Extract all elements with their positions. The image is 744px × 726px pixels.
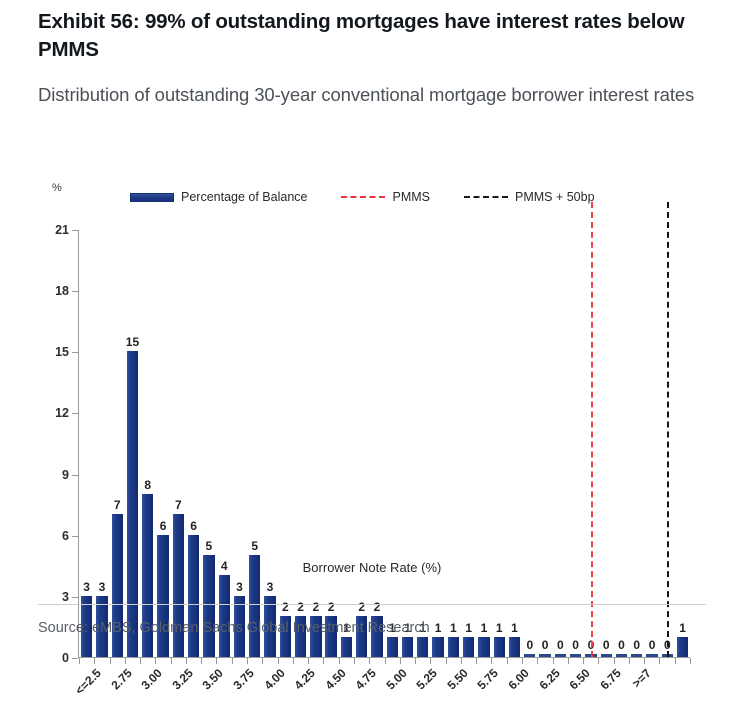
- bar-series: 3371586765435322221221111111110000000000…: [79, 230, 690, 657]
- bar-value-label: 0: [542, 638, 549, 652]
- x-axis-tick: [415, 658, 416, 664]
- x-axis-tick: [675, 658, 676, 664]
- bar-cell: 15: [125, 230, 140, 657]
- x-axis-tick: [614, 658, 615, 664]
- bar[interactable]: [188, 535, 199, 657]
- x-axis-tick-label: 6.75: [597, 666, 623, 692]
- bar[interactable]: [341, 637, 352, 657]
- bar-cell: 0: [629, 230, 644, 657]
- bar-cell: 0: [599, 230, 614, 657]
- x-axis-tick: [644, 658, 645, 664]
- x-axis-tick: [110, 658, 111, 664]
- bar-value-label: 3: [236, 580, 243, 594]
- bar-value-label: 2: [328, 600, 335, 614]
- bar-cell: 7: [171, 230, 186, 657]
- bar-value-label: 2: [313, 600, 320, 614]
- bar-value-label: 0: [649, 638, 656, 652]
- x-axis-tick-label: 3.00: [139, 666, 165, 692]
- pmms-plus-50bp-line: [667, 202, 669, 657]
- x-axis-tick-label: >=7: [630, 666, 655, 691]
- chart-page: Exhibit 56: 99% of outstanding mortgages…: [0, 0, 744, 662]
- bar[interactable]: [570, 654, 581, 657]
- x-axis-tick: [155, 658, 156, 664]
- bar-cell: 0: [644, 230, 659, 657]
- bar-cell: 0: [537, 230, 552, 657]
- x-axis-tick: [293, 658, 294, 664]
- bar[interactable]: [402, 637, 413, 657]
- legend-swatch-dashed-red-icon: [341, 196, 385, 198]
- bar[interactable]: [555, 654, 566, 657]
- bar-value-label: 8: [144, 478, 151, 492]
- bar-value-label: 2: [282, 600, 289, 614]
- x-axis-tick: [568, 658, 569, 664]
- bar-cell: 3: [232, 230, 247, 657]
- x-axis-tick: [629, 658, 630, 664]
- bar-cell: 6: [155, 230, 170, 657]
- bar-cell: 2: [278, 230, 293, 657]
- x-axis-title: Borrower Note Rate (%): [0, 560, 744, 575]
- bar-value-label: 1: [679, 621, 686, 635]
- y-axis-tick: [72, 352, 78, 353]
- bar-value-label: 6: [160, 519, 167, 533]
- legend-label-pmms-plus-50bp: PMMS + 50bp: [515, 190, 595, 204]
- x-axis-tick: [385, 658, 386, 664]
- bar[interactable]: [432, 637, 443, 657]
- bar[interactable]: [509, 637, 520, 657]
- x-axis-tick: [491, 658, 492, 664]
- y-axis-tick: [72, 658, 78, 659]
- bar-cell: 2: [369, 230, 384, 657]
- x-axis-tick: [553, 658, 554, 664]
- bar-value-label: 2: [297, 600, 304, 614]
- x-axis-tick: [186, 658, 187, 664]
- x-axis-tick-label: 5.00: [383, 666, 409, 692]
- x-axis-tick: [400, 658, 401, 664]
- footer-divider: [38, 604, 706, 605]
- x-axis-tick-label: 3.75: [230, 666, 256, 692]
- bar-cell: 1: [446, 230, 461, 657]
- bar-cell: 0: [522, 230, 537, 657]
- bar-value-label: 1: [481, 621, 488, 635]
- y-axis-tick-label: 9: [62, 468, 69, 482]
- legend-swatch-dashed-black-icon: [464, 196, 508, 198]
- x-axis-tick: [278, 658, 279, 664]
- y-axis-tick: [72, 230, 78, 231]
- x-axis-tick-label: 3.50: [200, 666, 226, 692]
- y-axis-tick-label: 3: [62, 590, 69, 604]
- plot-area: 036912151821 337158676543532222122111111…: [78, 230, 690, 658]
- bar-value-label: 3: [99, 580, 106, 594]
- bar-cell: 1: [415, 230, 430, 657]
- bar-value-label: 0: [618, 638, 625, 652]
- bar-cell: 4: [217, 230, 232, 657]
- source-note: Source: eMBS, Goldman Sachs Global Inves…: [38, 620, 430, 636]
- bar-value-label: 2: [374, 600, 381, 614]
- x-axis-tick-label: 5.75: [475, 666, 501, 692]
- bar-value-label: 1: [435, 621, 442, 635]
- y-axis-tick: [72, 597, 78, 598]
- x-axis-tick: [476, 658, 477, 664]
- bar-cell: 5: [201, 230, 216, 657]
- x-axis-tick: [537, 658, 538, 664]
- bar-value-label: 7: [114, 498, 121, 512]
- x-axis-tick-label: 4.75: [353, 666, 379, 692]
- bar-value-label: 2: [358, 600, 365, 614]
- bar-value-label: 1: [450, 621, 457, 635]
- bar-cell: 1: [461, 230, 476, 657]
- bar-value-label: 0: [557, 638, 564, 652]
- bar-cell: 1: [476, 230, 491, 657]
- bar-value-label: 1: [496, 621, 503, 635]
- x-axis-tick: [171, 658, 172, 664]
- bar-value-label: 3: [83, 580, 90, 594]
- bar-value-label: 1: [511, 621, 518, 635]
- bar[interactable]: [494, 637, 505, 657]
- pmms-line: [591, 202, 593, 657]
- bar-cell: 2: [293, 230, 308, 657]
- bar-cell: 8: [140, 230, 155, 657]
- x-axis-tick: [94, 658, 95, 664]
- x-axis-tick: [262, 658, 263, 664]
- bar-value-label: 0: [603, 638, 610, 652]
- x-axis-tick: [216, 658, 217, 664]
- x-axis-tick-label: 4.00: [261, 666, 287, 692]
- chart-legend: Percentage of Balance PMMS PMMS + 50bp: [130, 190, 595, 204]
- bar-cell: 1: [492, 230, 507, 657]
- bar-value-label: 0: [526, 638, 533, 652]
- y-axis-tick-label: 18: [55, 284, 69, 298]
- bar[interactable]: [539, 654, 550, 657]
- x-axis-tick: [125, 658, 126, 664]
- bar-value-label: 15: [126, 335, 139, 349]
- x-axis-tick: [507, 658, 508, 664]
- y-axis-tick-label: 12: [55, 406, 69, 420]
- bar[interactable]: [524, 654, 535, 657]
- bar-cell: 1: [675, 230, 690, 657]
- x-axis-tick: [140, 658, 141, 664]
- bar[interactable]: [387, 637, 398, 657]
- bar[interactable]: [448, 637, 459, 657]
- bar-value-label: 5: [206, 539, 213, 553]
- bar[interactable]: [127, 351, 138, 657]
- x-axis-tick: [430, 658, 431, 664]
- bar-value-label: 1: [465, 621, 472, 635]
- bar-cell: 3: [262, 230, 277, 657]
- bar-cell: 1: [400, 230, 415, 657]
- x-axis-tick-label: <=2.5: [73, 666, 105, 698]
- x-axis-tick: [522, 658, 523, 664]
- bar-value-label: 0: [572, 638, 579, 652]
- x-axis-tick-label: 5.50: [444, 666, 470, 692]
- legend-swatch-bar-icon: [130, 193, 174, 202]
- bar[interactable]: [646, 654, 657, 657]
- exhibit-title: Exhibit 56: 99% of outstanding mortgages…: [38, 8, 698, 64]
- x-axis-tick: [323, 658, 324, 664]
- bar-cell: 1: [507, 230, 522, 657]
- x-axis-tick-label: 3.25: [169, 666, 195, 692]
- y-axis-tick-label: 6: [62, 529, 69, 543]
- legend-item-pmms: PMMS: [341, 190, 430, 204]
- bar[interactable]: [601, 654, 612, 657]
- x-axis-tick: [690, 658, 691, 664]
- legend-label-percentage-of-balance: Percentage of Balance: [181, 190, 307, 204]
- bar-value-label: 3: [267, 580, 274, 594]
- legend-label-pmms: PMMS: [392, 190, 430, 204]
- x-axis-tick-label: 6.25: [536, 666, 562, 692]
- bar-cell: 1: [430, 230, 445, 657]
- x-axis-tick: [598, 658, 599, 664]
- bar-cell: 2: [324, 230, 339, 657]
- x-axis-tick: [446, 658, 447, 664]
- x-axis-labels: <=2.52.753.003.253.503.754.004.254.504.7…: [79, 666, 690, 726]
- bar[interactable]: [478, 637, 489, 657]
- x-axis-tick-label: 2.75: [108, 666, 134, 692]
- bar-value-label: 6: [190, 519, 197, 533]
- bar[interactable]: [631, 654, 642, 657]
- bar-cell: 2: [308, 230, 323, 657]
- bar-cell: 2: [354, 230, 369, 657]
- bar[interactable]: [417, 637, 428, 657]
- legend-item-pmms-plus-50bp: PMMS + 50bp: [464, 190, 595, 204]
- x-axis-tick-label: 6.00: [505, 666, 531, 692]
- y-axis-unit-label: %: [52, 182, 62, 194]
- legend-item-percentage-of-balance: Percentage of Balance: [130, 190, 307, 204]
- bar[interactable]: [677, 637, 688, 657]
- bar-cell: 5: [247, 230, 262, 657]
- x-axis-tick-label: 5.25: [414, 666, 440, 692]
- bar-cell: 6: [186, 230, 201, 657]
- x-axis-tick: [659, 658, 660, 664]
- bar-cell: 3: [94, 230, 109, 657]
- x-axis-tick: [201, 658, 202, 664]
- bar-value-label: 7: [175, 498, 182, 512]
- x-axis-tick: [79, 658, 80, 664]
- x-axis-tick: [461, 658, 462, 664]
- y-axis-tick: [72, 413, 78, 414]
- bar[interactable]: [219, 575, 230, 657]
- y-axis-tick-label: 21: [55, 223, 69, 237]
- y-axis-tick-label: 0: [62, 651, 69, 665]
- y-axis-tick: [72, 536, 78, 537]
- bar-value-label: 0: [633, 638, 640, 652]
- chart-area: % Percentage of Balance PMMS PMMS + 50bp…: [0, 168, 744, 568]
- bar-cell: 1: [339, 230, 354, 657]
- exhibit-subtitle: Distribution of outstanding 30-year conv…: [38, 80, 708, 109]
- x-axis-tick: [308, 658, 309, 664]
- y-axis-tick-label: 15: [55, 345, 69, 359]
- bar[interactable]: [616, 654, 627, 657]
- bar[interactable]: [463, 637, 474, 657]
- bar-value-label: 5: [251, 539, 258, 553]
- x-axis-tick: [583, 658, 584, 664]
- x-axis-tick-label: 4.50: [322, 666, 348, 692]
- x-axis-tick: [247, 658, 248, 664]
- bar-cell: 1: [385, 230, 400, 657]
- bar-cell: 7: [110, 230, 125, 657]
- x-axis-tick: [369, 658, 370, 664]
- bar-cell: 3: [79, 230, 94, 657]
- bar-cell: 0: [614, 230, 629, 657]
- bar-cell: 0: [553, 230, 568, 657]
- y-axis-tick: [72, 475, 78, 476]
- bar-cell: 0: [568, 230, 583, 657]
- x-axis-tick-label: 6.50: [567, 666, 593, 692]
- x-axis-tick: [232, 658, 233, 664]
- x-axis-tick-label: 4.25: [292, 666, 318, 692]
- y-axis-tick: [72, 291, 78, 292]
- x-axis-tick: [339, 658, 340, 664]
- x-axis-tick: [354, 658, 355, 664]
- bar[interactable]: [157, 535, 168, 657]
